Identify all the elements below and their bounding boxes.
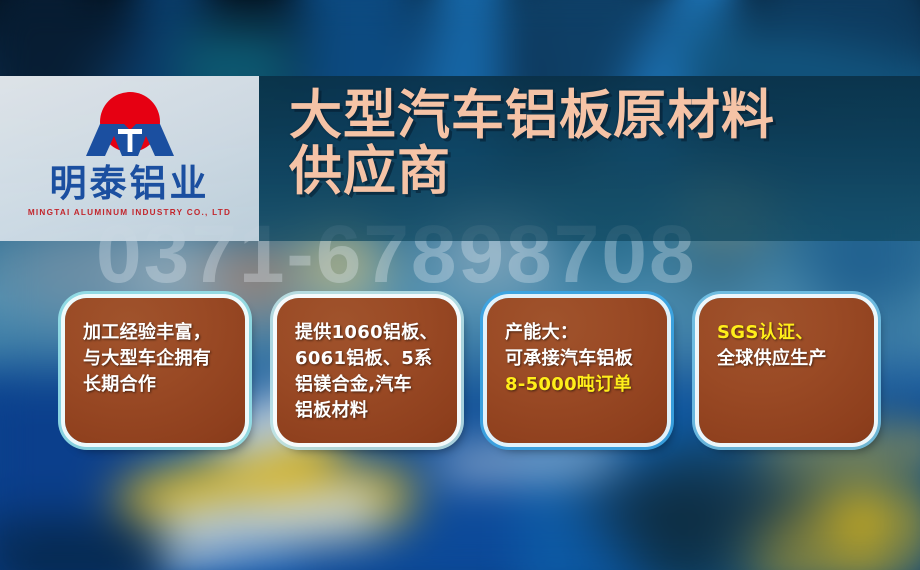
card-capacity[interactable]: 产能大：可承接汽车铝板8-5000吨订单 xyxy=(487,298,667,443)
card-certification[interactable]: SGS认证、全球供应生产 xyxy=(699,298,874,443)
feature-card-line: 铝板材料 xyxy=(295,398,457,424)
feature-card-line: 铝镁合金,汽车 xyxy=(295,372,457,398)
page-title-line1: 大型汽车铝板原材料 xyxy=(289,85,775,146)
card-products[interactable]: 提供1060铝板、6061铝板、5系铝镁合金,汽车铝板材料 xyxy=(277,298,457,443)
mingtai-sun-mountain-logo xyxy=(78,86,182,164)
company-name-en: MINGTAI ALUMINUM INDUSTRY CO., LTD xyxy=(28,208,231,217)
feature-card-line: 可承接汽车铝板 xyxy=(505,346,667,372)
promotional-banner: 0371-67898708 明泰铝业 MINGTAI ALUMINUM INDU… xyxy=(0,0,920,570)
page-title-line2: 供应商 xyxy=(289,144,909,200)
feature-card-line: 8-5000吨订单 xyxy=(505,372,667,398)
feature-card-line: 提供1060铝板、 xyxy=(295,320,457,346)
feature-card-line: 长期合作 xyxy=(83,372,245,398)
logo-panel: 明泰铝业 MINGTAI ALUMINUM INDUSTRY CO., LTD xyxy=(0,76,259,241)
company-name-cn: 明泰铝业 xyxy=(50,165,210,202)
feature-card-line: SGS认证、 xyxy=(717,320,874,346)
feature-card-line: 产能大： xyxy=(505,320,667,346)
feature-card-line: 6061铝板、5系 xyxy=(295,346,457,372)
feature-card-line: 加工经验丰富， xyxy=(83,320,245,346)
feature-card-list: 加工经验丰富，与大型车企拥有长期合作 提供1060铝板、6061铝板、5系铝镁合… xyxy=(0,298,920,448)
page-title: 大型汽车铝板原材料 供应商 xyxy=(289,88,909,200)
card-experience[interactable]: 加工经验丰富，与大型车企拥有长期合作 xyxy=(65,298,245,443)
feature-card-line: 与大型车企拥有 xyxy=(83,346,245,372)
feature-card-line: 全球供应生产 xyxy=(717,346,874,372)
